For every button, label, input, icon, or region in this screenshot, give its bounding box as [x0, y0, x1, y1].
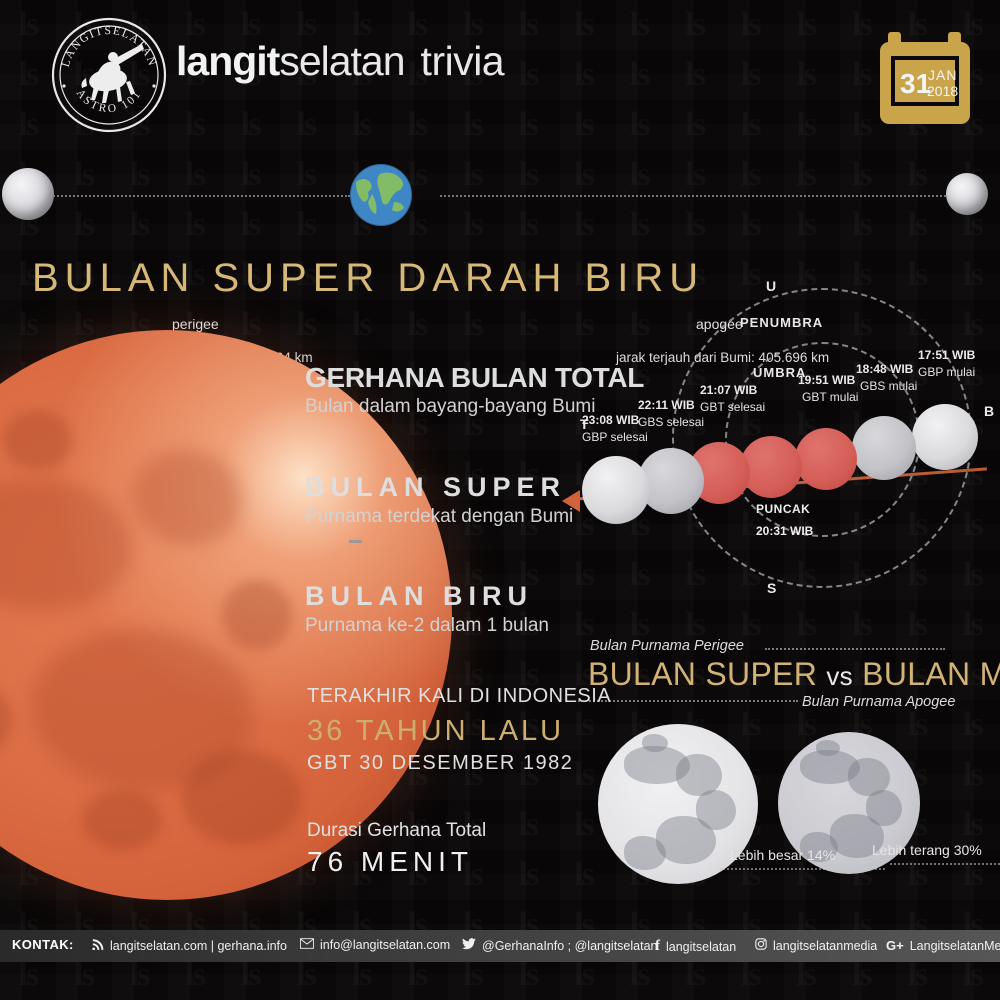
contact-label: KONTAK: — [12, 937, 74, 952]
infographic-canvas: lslslslslslslslslslslslslslslslslslslsls… — [0, 0, 1000, 1000]
calendar-icon: 31 JAN 2018 — [876, 28, 974, 128]
last-time-event-date: GBT 30 DESEMBER 1982 — [307, 752, 573, 775]
caption-size-rule — [720, 868, 885, 870]
contact-item-instagram[interactable]: langitselatanmedia — [755, 938, 877, 953]
feature-subtitle-bulan-super: Purnama terdekat dengan Bumi — [305, 506, 573, 528]
phase-event-2: GBT selesai — [700, 400, 765, 414]
calendar-year: 2018 — [927, 83, 958, 99]
perigee-dotted-line — [38, 195, 350, 197]
contact-footer-bar: KONTAK: langitselatan.com | gerhana.info… — [0, 930, 1000, 962]
facebook-icon: f — [655, 938, 660, 955]
apogee-dotted-line — [440, 195, 962, 197]
caption-bright-rule — [890, 863, 1000, 865]
phase-event-0: GBP selesai — [582, 430, 648, 444]
phase-moon-0 — [582, 456, 650, 524]
phase-moon-4 — [795, 428, 857, 490]
twitter-icon — [462, 938, 476, 953]
super-vs-mini-section: Bulan Purnama Perigee BULAN SUPER vs BUL… — [560, 632, 1000, 902]
eclipse-path-diagram: U S T B PENUMBRA UMBRA 23:08 WIB GBP sel… — [560, 270, 1000, 610]
caption-bright: Lebih terang 30% — [872, 842, 982, 858]
apogee-moon-icon — [946, 173, 988, 215]
last-time-years-ago: 36 TAHUN LALU — [307, 715, 564, 748]
contact-item-website[interactable]: langitselatan.com | gerhana.info — [92, 938, 287, 953]
cardinal-east-label: B — [984, 403, 995, 419]
contact-text-email: info@langitselatan.com — [320, 938, 450, 952]
brand-light: selatan — [279, 38, 404, 84]
comparison-top-rule — [765, 648, 945, 650]
feature-title-bulan-super: BULAN SUPER — [305, 472, 566, 503]
comparison-title-left: BULAN SUPER — [588, 656, 817, 692]
cardinal-north-label: U — [766, 278, 777, 294]
phase-time-4: 18:48 WIB — [856, 362, 913, 376]
brand-title: langitselatantrivia — [176, 38, 504, 85]
peak-label: PUNCAK — [756, 502, 810, 516]
contact-item-facebook[interactable]: f langitselatan — [655, 938, 736, 955]
feature-title-bulan-biru: BULAN BIRU — [305, 581, 533, 612]
contact-text-website: langitselatan.com | gerhana.info — [110, 939, 287, 953]
cardinal-south-label: S — [767, 580, 777, 596]
calendar-month: JAN — [928, 67, 957, 83]
googleplus-icon: G+ — [886, 938, 904, 953]
brand-bold: langit — [176, 38, 279, 84]
duration-label: Durasi Gerhana Total — [307, 820, 486, 842]
duration-value: 76 MENIT — [307, 846, 473, 878]
contact-text-googleplus: LangitselatanMedia — [910, 939, 1000, 953]
comparison-top-label: Bulan Purnama Perigee — [590, 638, 744, 654]
phase-event-3: GBT mulai — [802, 390, 858, 404]
header: LANGITSELATAN ASTRO 101 — [0, 0, 1000, 150]
phase-time-5: 17:51 WIB — [918, 348, 975, 362]
phase-moon-5 — [852, 416, 916, 480]
phase-event-1: GBS selesai — [638, 415, 704, 429]
phase-time-3: 19:51 WIB — [798, 373, 855, 387]
feature-subtitle-gerhana-bulan-total: Bulan dalam bayang-bayang Bumi — [305, 396, 595, 418]
contact-item-twitter[interactable]: @GerhanaInfo ; @langitselatan — [462, 938, 657, 953]
phase-event-4: GBS mulai — [860, 379, 917, 393]
contact-text-twitter: @GerhanaInfo ; @langitselatan — [482, 939, 657, 953]
perigee-apogee-band: perigee jarak terdekat dari Bumi: 363.10… — [0, 150, 1000, 240]
contact-text-facebook: langitselatan — [666, 940, 736, 954]
envelope-icon — [300, 938, 314, 952]
caption-size: Lebih besar 14% — [730, 847, 835, 863]
phase-time-0: 23:08 WIB — [582, 413, 639, 427]
contact-item-email[interactable]: info@langitselatan.com — [300, 938, 450, 952]
contact-item-googleplus[interactable]: G+ LangitselatanMedia — [886, 938, 1000, 953]
perigee-moon-icon — [2, 168, 54, 220]
phase-time-1: 22:11 WIB — [638, 398, 695, 412]
peak-time: 20:31 WIB — [756, 524, 813, 538]
comparison-title: BULAN SUPER vs BULAN MINI — [588, 656, 1000, 693]
path-arrow-head-icon — [562, 490, 580, 512]
comparison-bottom-label: Bulan Purnama Apogee — [802, 694, 955, 710]
phase-moon-6 — [912, 404, 978, 470]
instagram-icon — [755, 938, 767, 953]
brand-trivia: trivia — [421, 38, 505, 84]
comparison-title-right: BULAN MINI — [862, 656, 1000, 692]
langitselatan-seal-icon: LANGITSELATAN ASTRO 101 — [50, 16, 168, 134]
penumbra-label: PENUMBRA — [740, 315, 823, 330]
divider-dash — [349, 540, 362, 543]
comparison-bottom-rule — [578, 700, 798, 702]
comparison-title-vs: vs — [826, 661, 853, 691]
phase-event-5: GBP mulai — [918, 365, 975, 379]
feature-subtitle-bulan-biru: Purnama ke-2 dalam 1 bulan — [305, 615, 549, 637]
earth-globe-icon — [350, 164, 412, 226]
phase-time-2: 21:07 WIB — [700, 383, 757, 397]
rss-icon — [92, 938, 104, 953]
contact-text-instagram: langitselatanmedia — [773, 939, 877, 953]
